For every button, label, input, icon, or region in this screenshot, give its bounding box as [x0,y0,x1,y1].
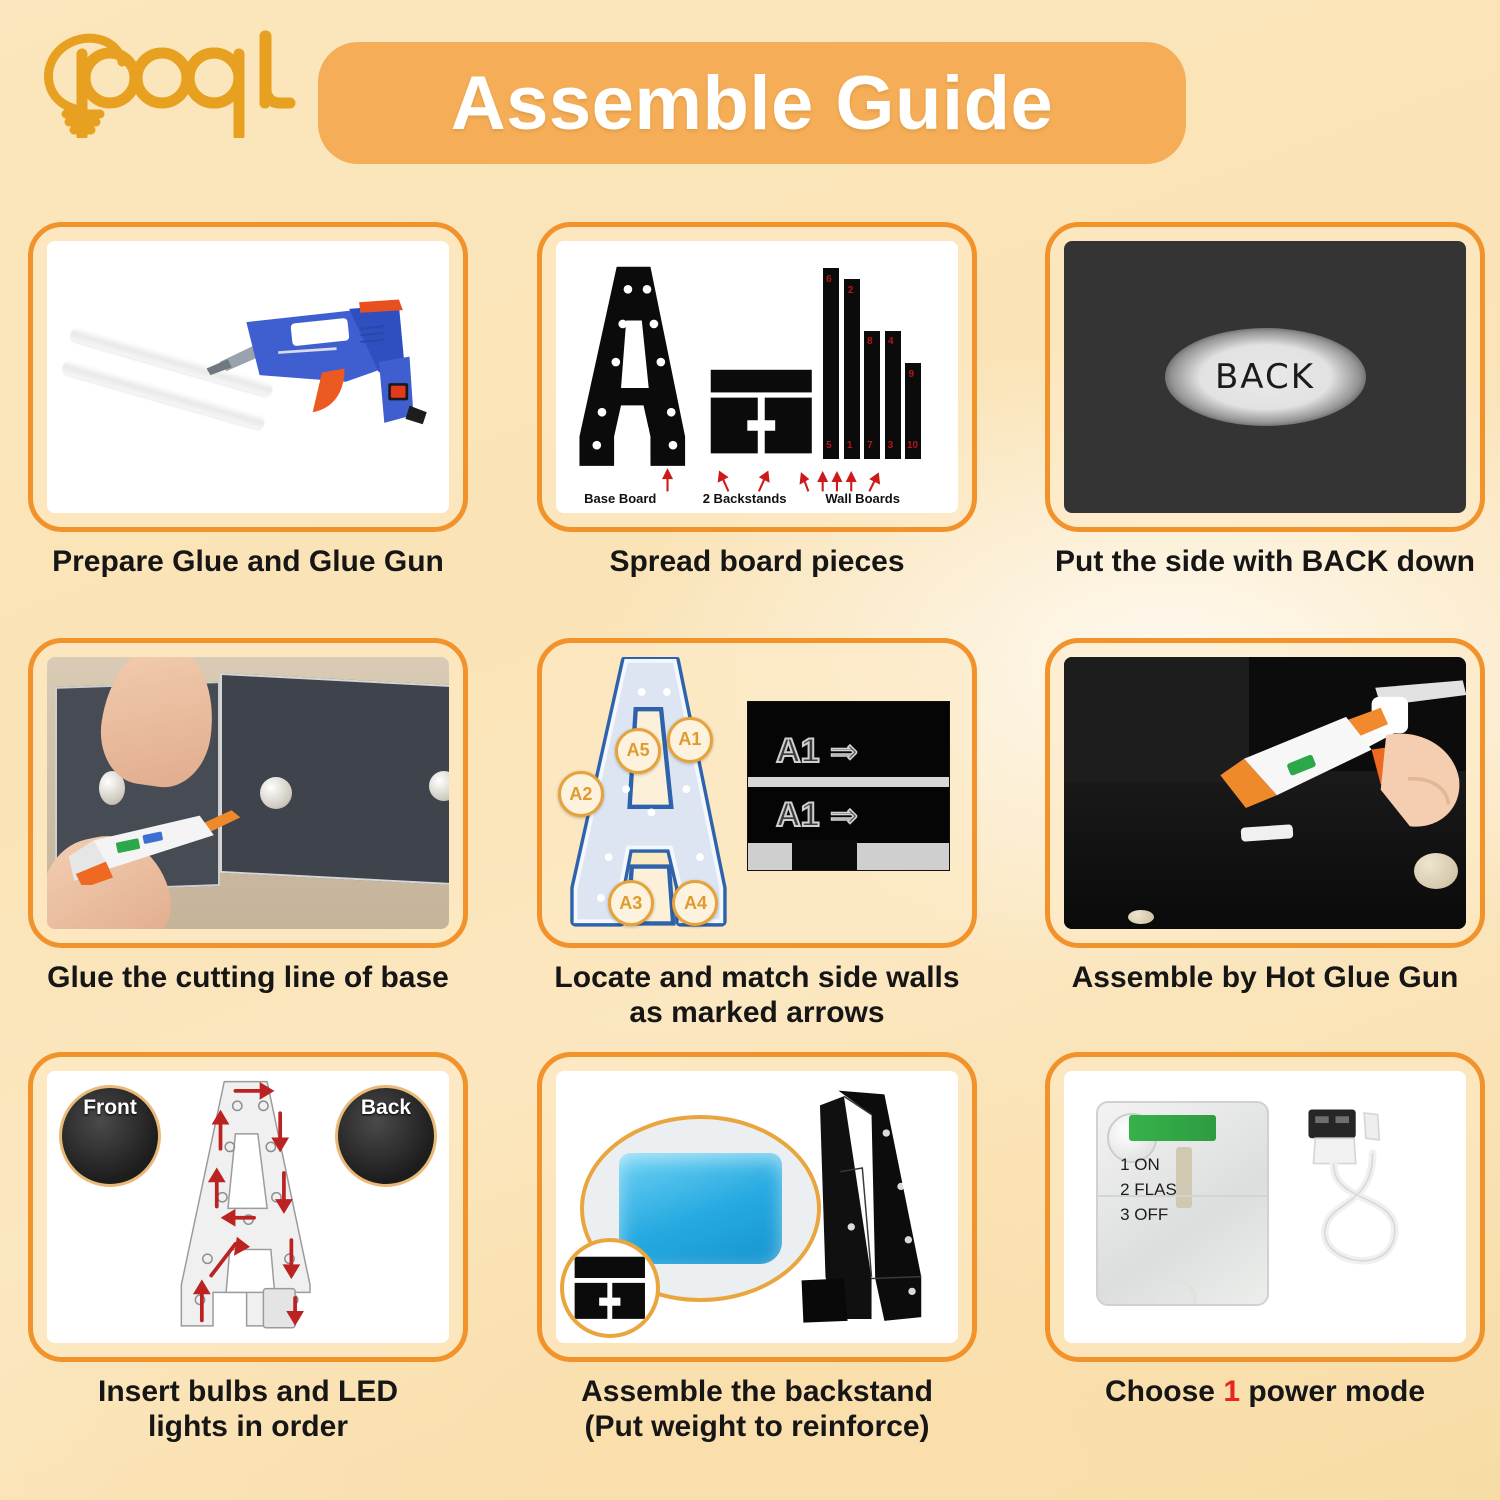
backstand-piece-inset [560,1238,660,1338]
step-8-frame [537,1052,977,1362]
right-arrow-icon: ⇒ [830,796,859,836]
step-2-frame: 6 2 8 4 9 5 1 7 3 10 [537,222,977,532]
marker-a2[interactable]: A2 [558,771,604,817]
step-9-caption: Choose 1 power mode [1045,1374,1485,1409]
letter-a-with-walls: A1 A2 A3 A4 A5 [556,657,741,929]
blue-water-bag [619,1153,782,1264]
brand-logo [22,18,302,138]
step-9-frame: 1 ON 2 FLASH 3 OFF [1045,1052,1485,1362]
step-8-caption-line2: (Put weight to reinforce) [585,1410,930,1443]
step-5-caption-line1: Locate and match side walls [554,961,959,994]
wall-board-1 [823,268,839,458]
step-6-caption: Assemble by Hot Glue Gun [1045,960,1485,995]
led-order-arrows [152,1076,345,1337]
base-panel-right [220,673,449,885]
battery-switch[interactable] [1176,1147,1192,1207]
step-8-caption: Assemble the backstand (Put weight to re… [537,1374,977,1445]
wall-board-number: 2 [848,285,854,296]
step-5-caption: Locate and match side walls as marked ar… [537,960,977,1031]
step-2-caption: Spread board pieces [537,544,977,579]
white-glue-gun-icon [1193,679,1466,837]
wall-board-number: 5 [826,440,832,451]
right-arrow-icon: ⇒ [830,732,859,772]
base-board-label: Base Board [584,491,656,506]
notch-cutout [792,840,856,870]
step-6-frame [1045,638,1485,948]
step-card-3[interactable]: BACK Put the side with BACK down [1045,222,1485,532]
step-5-caption-line2: as marked arrows [629,996,884,1029]
wall-board-number: 8 [867,336,873,347]
assembled-backstand [781,1087,942,1326]
insert-bulbs-diagram: Front Back [47,1071,449,1343]
battery-loop [1149,1278,1197,1306]
front-label: Front [83,1096,137,1120]
blue-glue-gun-icon [180,257,445,480]
inset-label-a1: A1 [776,732,819,771]
battery-green-pack [1129,1115,1217,1141]
step-5-frame: A1 A2 A3 A4 A5 A1 ⇒ A1 [537,638,977,948]
coin-dot [1414,853,1458,889]
marker-a3[interactable]: A3 [608,880,654,926]
battery-box-photo: 1 ON 2 FLASH 3 OFF [1064,1071,1466,1343]
base-board-letter-a [576,263,689,470]
wall-board-number: 3 [888,440,894,451]
step-3-caption: Put the side with BACK down [1045,544,1485,579]
back-overlay-text: BACK [1215,357,1315,397]
marker-a5[interactable]: A5 [615,728,661,774]
step-card-1[interactable]: Prepare Glue and Glue Gun [28,222,468,532]
page-title-banner: Assemble Guide [318,42,1186,164]
front-inset: Front [59,1085,161,1187]
coin-dot [1128,910,1154,924]
wall-board-number: 9 [909,369,915,380]
steps-grid: Prepare Glue and Glue Gun [0,190,1500,1500]
step-7-caption: Insert bulbs and LED lights in order [28,1374,468,1445]
magnet-dot [260,777,292,809]
backstand-piece-icon [573,1251,647,1325]
page-title: Assemble Guide [451,60,1054,147]
wall-board-number: 7 [867,440,873,451]
glue-cut-line-photo [47,657,449,929]
step-card-7[interactable]: Front Back Insert bulbs and LED lights i… [28,1052,468,1362]
glue-gun-photo [47,241,449,513]
inset-label-a1: A1 [776,796,819,835]
page-header: Assemble Guide [0,0,1500,190]
step-9-caption-prefix: Choose [1105,1375,1223,1408]
wall-board-2 [844,279,860,459]
step-3-frame: BACK [1045,222,1485,532]
back-label: Back [361,1096,411,1120]
backstand-photo [556,1071,958,1343]
wall-board-number: 10 [907,440,918,451]
white-glue-gun-icon [67,804,244,886]
wall-board-number: 1 [847,440,853,451]
step-card-2[interactable]: 6 2 8 4 9 5 1 7 3 10 [537,222,977,532]
step-card-8[interactable]: Assemble the backstand (Put weight to re… [537,1052,977,1362]
lightbulb-icon [22,18,302,138]
wall-board-edge [748,777,949,787]
wall-boards-label: Wall Boards [825,491,900,506]
step-9-caption-highlight: 1 [1223,1375,1240,1408]
step-4-caption: Glue the cutting line of base [28,960,468,995]
step-card-5[interactable]: A1 A2 A3 A4 A5 A1 ⇒ A1 [537,638,977,948]
step-1-caption: Prepare Glue and Glue Gun [28,544,468,579]
step-4-frame [28,638,468,948]
marker-a1[interactable]: A1 [667,717,713,763]
box-seam [1098,1195,1267,1197]
battery-box: 1 ON 2 FLASH 3 OFF [1096,1101,1269,1306]
inset-row-bottom: A1 ⇒ [776,796,858,836]
step-card-4[interactable]: Glue the cutting line of base [28,638,468,948]
step-8-caption-line1: Assemble the backstand [581,1375,933,1408]
step-card-9[interactable]: 1 ON 2 FLASH 3 OFF [1045,1052,1485,1362]
step-1-frame [28,222,468,532]
back-side-photo: BACK [1064,241,1466,513]
board-pieces-diagram: 6 2 8 4 9 5 1 7 3 10 [556,241,958,513]
arrow-match-inset: A1 ⇒ A1 ⇒ [747,701,950,872]
wall-board-number: 4 [888,336,894,347]
usb-cable [1273,1098,1442,1310]
step-7-caption-line1: Insert bulbs and LED [98,1375,398,1408]
backstands-label: 2 Backstands [703,491,787,506]
back-glow: BACK [1165,328,1366,426]
step-9-caption-suffix: power mode [1240,1375,1425,1408]
step-7-caption-line2: lights in order [148,1410,348,1443]
hot-glue-gun-photo [1064,657,1466,929]
step-7-frame: Front Back [28,1052,468,1362]
backstand-pieces [709,366,814,469]
back-inset: Back [335,1085,437,1187]
inset-row-top: A1 ⇒ [776,732,858,772]
wall-board-number: 6 [826,274,832,285]
side-wall-markers-diagram: A1 A2 A3 A4 A5 A1 ⇒ A1 [556,657,958,929]
step-card-6[interactable]: Assemble by Hot Glue Gun [1045,638,1485,948]
